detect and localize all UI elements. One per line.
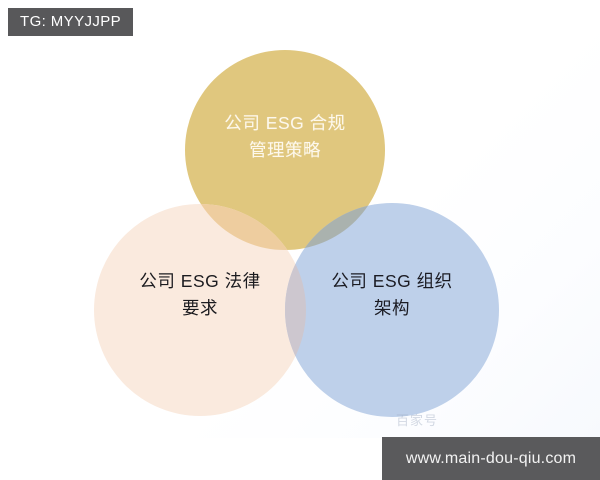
site-watermark-label: www.main-dou-qiu.com [406, 450, 576, 468]
slide-canvas: 公司 ESG 合规 管理策略 公司 ESG 法律 要求 公司 ESG 组织 架构… [0, 0, 600, 480]
tg-watermark-badge: TG: MYYJJPP [8, 8, 133, 36]
inner-watermark-label: 百家号 [396, 410, 438, 429]
site-watermark-badge: www.main-dou-qiu.com [382, 437, 600, 480]
venn-svg [0, 0, 600, 480]
venn-diagram [0, 0, 600, 480]
